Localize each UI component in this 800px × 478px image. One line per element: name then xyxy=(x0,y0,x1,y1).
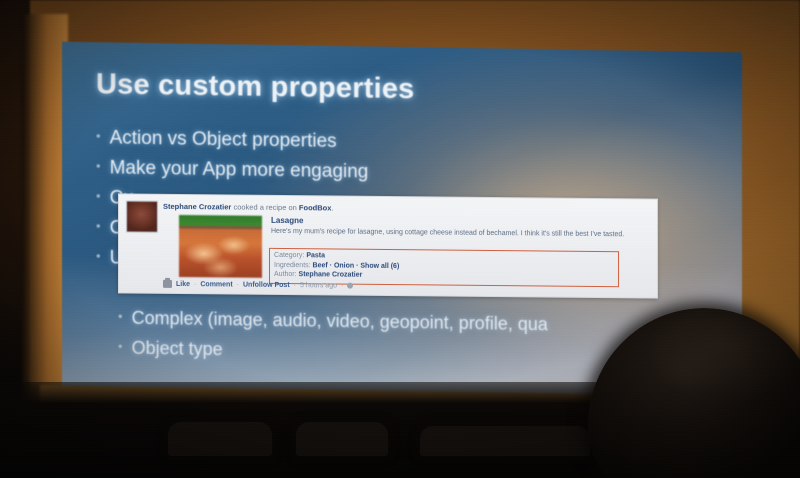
comment-button[interactable]: Comment xyxy=(200,281,232,288)
action-separator: · xyxy=(237,281,239,288)
story-app-link[interactable]: FoodBox xyxy=(299,203,332,212)
avatar xyxy=(126,200,158,232)
property-value[interactable]: Pasta xyxy=(306,252,325,259)
chair-back xyxy=(296,422,388,456)
bullet-marker-icon: • xyxy=(118,310,123,323)
action-separator: · xyxy=(294,282,296,289)
bullet-label: Object type xyxy=(132,338,223,360)
timestamp[interactable]: 5 hours ago xyxy=(300,282,337,289)
action-separator: · xyxy=(341,282,343,289)
property-value[interactable]: Stephane Crozatier xyxy=(299,271,363,279)
property-key: Category: xyxy=(274,252,304,259)
story-headline: Stephane Crozatier cooked a recipe on Fo… xyxy=(163,202,649,217)
property-key: Author: xyxy=(274,271,297,278)
bullet-marker-icon: • xyxy=(96,189,101,202)
property-key: Ingredients: xyxy=(274,261,311,268)
bullet-marker-icon: • xyxy=(118,340,123,353)
object-description: Here's my mum's recipe for lasagne, usin… xyxy=(271,227,651,240)
story-actor-link[interactable]: Stephane Crozatier xyxy=(163,202,231,212)
bullet-marker-icon: • xyxy=(96,219,101,232)
thumbs-up-icon xyxy=(163,280,172,288)
bullet-marker-icon: • xyxy=(96,159,101,172)
photo-of-projected-slide: Use custom properties • Action vs Object… xyxy=(0,0,800,478)
unfollow-post-button[interactable]: Unfollow Post xyxy=(243,281,290,288)
story-attachment-body: Lasagne Here's my mum's recipe for lasag… xyxy=(271,216,651,240)
facebook-story-overlay: Stephane Crozatier cooked a recipe on Fo… xyxy=(118,193,658,298)
like-button[interactable]: Like xyxy=(176,280,190,287)
slide-title: Use custom properties xyxy=(96,68,414,106)
bullet-label: Action vs Object properties xyxy=(110,127,337,153)
bullet-marker-icon: • xyxy=(96,129,101,142)
action-separator: · xyxy=(194,281,196,288)
property-value[interactable]: Beef · Onion · Show all (6) xyxy=(313,262,400,270)
globe-icon[interactable] xyxy=(347,283,353,289)
story-period: . xyxy=(331,203,333,212)
story-verb: cooked a recipe on xyxy=(231,202,299,212)
bullet-marker-icon: • xyxy=(96,249,101,262)
chair-back xyxy=(420,426,590,456)
chair-back xyxy=(168,422,272,456)
recipe-thumbnail-image[interactable] xyxy=(179,215,262,278)
bullet-label: Make your App more engaging xyxy=(110,157,369,183)
